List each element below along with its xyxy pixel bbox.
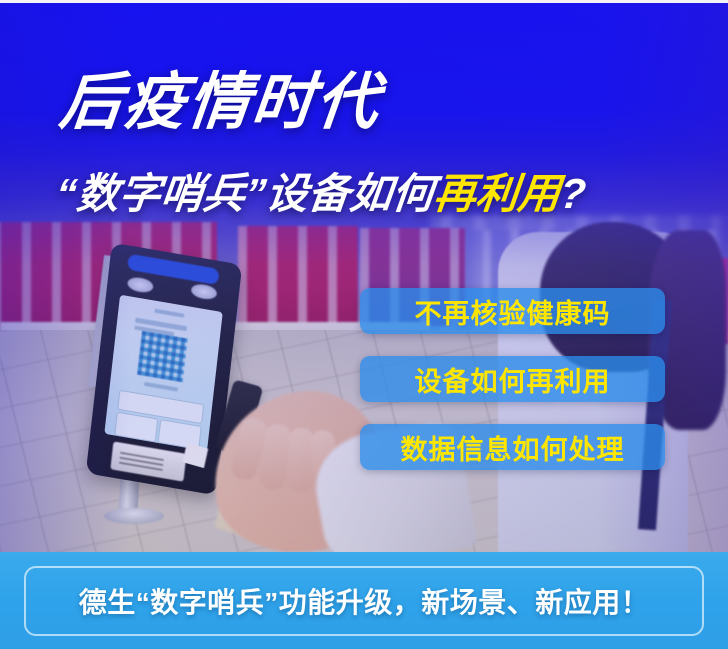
topic-pill-label: 设备如何再利用 — [415, 360, 611, 399]
banner-text: 德生“数字哨兵”功能升级，新场景、新应用！ — [79, 581, 650, 621]
topic-pill-label: 数据信息如何处理 — [401, 428, 625, 467]
subtitle-lead: “数字哨兵”设备如何 — [54, 170, 437, 217]
banner-frame: 德生“数字哨兵”功能升级，新场景、新应用！ — [24, 566, 704, 636]
bottom-banner: 德生“数字哨兵”功能升级，新场景、新应用！ — [0, 552, 728, 649]
subtitle-question-mark: ? — [558, 170, 589, 217]
page-subtitle: “数字哨兵”设备如何再利用? — [54, 173, 588, 215]
topic-pill-device-reuse[interactable]: 设备如何再利用 — [360, 356, 665, 402]
topic-pill-list: 不再核验健康码 设备如何再利用 数据信息如何处理 — [360, 288, 665, 470]
topic-pill-health-code[interactable]: 不再核验健康码 — [360, 288, 665, 334]
topic-pill-data-handling[interactable]: 数据信息如何处理 — [360, 424, 665, 470]
poster-root: 后疫情时代 “数字哨兵”设备如何再利用? 不再核验健康码 设备如何再利用 数据信… — [0, 0, 728, 649]
subtitle-highlight: 再利用 — [432, 170, 563, 217]
top-edge-sliver — [0, 0, 728, 3]
topic-pill-label: 不再核验健康码 — [415, 292, 611, 331]
page-title: 后疫情时代 — [57, 72, 384, 134]
